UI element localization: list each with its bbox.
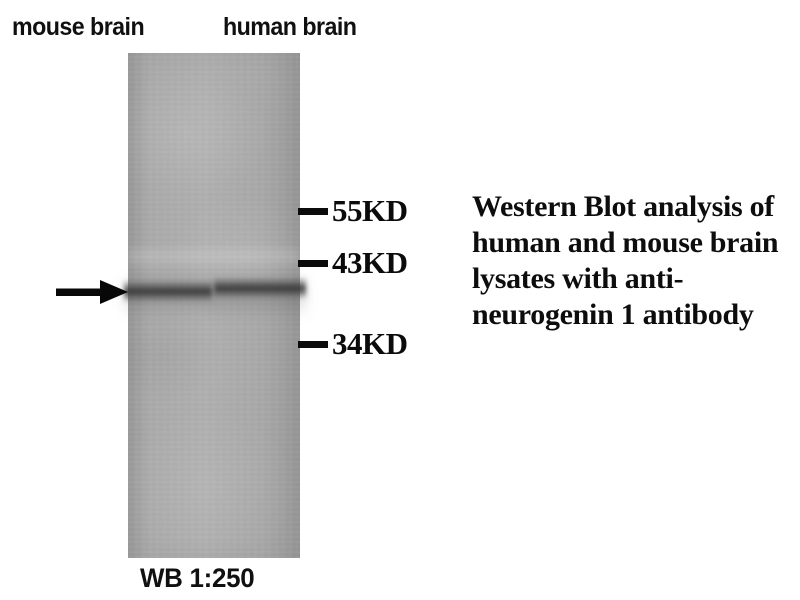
mw-marker-55kd: 55KD <box>298 196 408 226</box>
western-blot-figure: mouse brain human brain 55KD 43KD 34KD W… <box>0 0 800 600</box>
figure-caption: Western Blot analysis of human and mouse… <box>472 189 792 333</box>
blot-membrane <box>128 53 300 558</box>
mw-dash-icon <box>298 260 328 267</box>
mw-marker-43kd: 43KD <box>298 248 408 278</box>
mw-marker-label: 34KD <box>332 329 408 359</box>
band-indicator-arrow-icon <box>56 276 128 308</box>
lane-label-human-brain: human brain <box>223 14 356 40</box>
lane-label-mouse-brain: mouse brain <box>12 14 144 40</box>
mw-dash-icon <box>298 341 328 348</box>
mw-marker-label: 55KD <box>332 196 408 226</box>
mw-marker-34kd: 34KD <box>298 329 408 359</box>
faint-upper-halo-band <box>128 243 300 269</box>
blot-band-human-brain <box>214 277 306 299</box>
mw-dash-icon <box>298 208 328 215</box>
mw-marker-label: 43KD <box>332 248 408 278</box>
blot-band-mouse-brain <box>124 280 212 302</box>
band-diffuse-smear <box>124 275 306 317</box>
antibody-dilution-label: WB 1:250 <box>140 563 254 593</box>
membrane-texture <box>128 53 300 558</box>
